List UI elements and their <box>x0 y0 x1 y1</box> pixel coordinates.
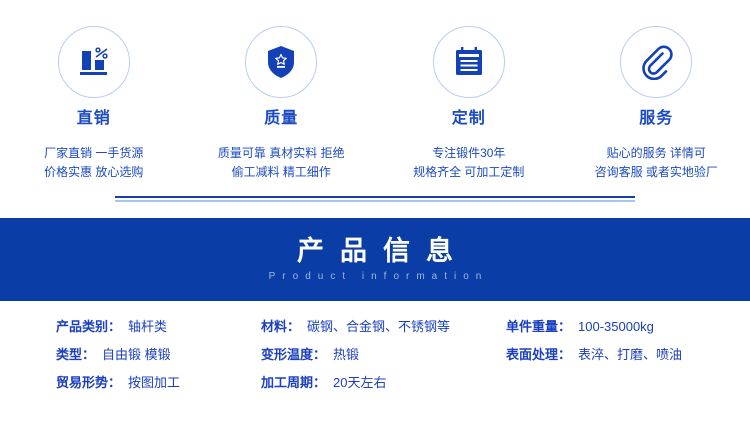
spec-row: 单件重量： 100-35000kg <box>506 316 710 344</box>
feature-icon-circle <box>245 26 317 98</box>
features-strip: 直销 厂家直销 一手货源 价格实惠 放心选购 质量 质量可靠 真材实料 拒绝 偷… <box>0 0 750 182</box>
spec-value: 按图加工 <box>128 372 180 391</box>
clipboard-lines-icon <box>452 45 486 79</box>
feature-title: 质量 <box>264 111 298 127</box>
feature-icon-circle <box>433 26 505 98</box>
feature-description-line-2: 咨询客服 或者实地验厂 <box>595 163 718 182</box>
feature-item-direct-sales[interactable]: 直销 厂家直销 一手货源 价格实惠 放心选购 <box>0 26 188 182</box>
feature-description: 质量可靠 真材实料 拒绝 偷工减料 精工细作 <box>218 144 345 182</box>
spec-row: 表面处理： 表淬、打磨、喷油 <box>506 344 710 372</box>
spec-column-1: 产品类别： 轴杆类 类型： 自由锻 模锻 贸易形势： 按图加工 <box>56 316 261 400</box>
feature-item-service[interactable]: 服务 贴心的服务 详情可 咨询客服 或者实地验厂 <box>563 26 750 182</box>
feature-description-line-2: 偷工减料 精工细作 <box>218 163 345 182</box>
spec-row: 加工周期： 20天左右 <box>261 372 506 400</box>
feature-item-customization[interactable]: 定制 专注锻件30年 规格齐全 可加工定制 <box>375 26 563 182</box>
banner-title: 产品信息 <box>281 237 469 265</box>
feature-description: 厂家直销 一手货源 价格实惠 放心选购 <box>44 144 143 182</box>
product-specs-table: 产品类别： 轴杆类 类型： 自由锻 模锻 贸易形势： 按图加工 材料： 碳钢、合… <box>0 316 750 400</box>
feature-description-line-1: 质量可靠 真材实料 拒绝 <box>218 144 345 163</box>
feature-item-quality[interactable]: 质量 质量可靠 真材实料 拒绝 偷工减料 精工细作 <box>188 26 376 182</box>
feature-icon-circle <box>620 26 692 98</box>
bar-chart-percent-icon <box>76 45 112 79</box>
spec-value: 表淬、打磨、喷油 <box>578 344 682 363</box>
feature-description-line-2: 价格实惠 放心选购 <box>44 163 143 182</box>
feature-description-line-1: 专注锻件30年 <box>413 144 524 163</box>
feature-title: 服务 <box>639 111 673 127</box>
feature-description-line-1: 贴心的服务 详情可 <box>595 144 718 163</box>
section-divider <box>115 196 635 202</box>
spec-value: 20天左右 <box>333 372 386 391</box>
spec-row: 类型： 自由锻 模锻 <box>56 344 261 372</box>
spec-label: 表面处理： <box>506 344 571 363</box>
spec-label: 类型： <box>56 344 95 363</box>
spec-row: 贸易形势： 按图加工 <box>56 372 261 400</box>
feature-description: 贴心的服务 详情可 咨询客服 或者实地验厂 <box>595 144 718 182</box>
spec-value: 热锻 <box>333 344 359 363</box>
spec-column-3: 单件重量： 100-35000kg 表面处理： 表淬、打磨、喷油 <box>506 316 710 400</box>
feature-description-line-2: 规格齐全 可加工定制 <box>413 163 524 182</box>
spec-label: 加工周期： <box>261 372 326 391</box>
spec-column-2: 材料： 碳钢、合金钢、不锈钢等 变形温度： 热锻 加工周期： 20天左右 <box>261 316 506 400</box>
banner-subtitle: Product information <box>262 272 489 282</box>
spec-row: 变形温度： 热锻 <box>261 344 506 372</box>
spec-label: 贸易形势： <box>56 372 121 391</box>
feature-title: 定制 <box>452 111 486 127</box>
shield-star-icon <box>265 44 297 80</box>
product-information-banner: 产品信息 Product information <box>0 218 750 301</box>
spec-label: 单件重量： <box>506 316 571 335</box>
feature-title: 直销 <box>77 111 111 127</box>
spec-row: 材料： 碳钢、合金钢、不锈钢等 <box>261 316 506 344</box>
spec-value: 100-35000kg <box>578 319 654 334</box>
spec-label: 变形温度： <box>261 344 326 363</box>
divider-rule-light <box>115 200 635 202</box>
feature-icon-circle <box>58 26 130 98</box>
paperclip-icon <box>638 44 674 80</box>
feature-description-line-1: 厂家直销 一手货源 <box>44 144 143 163</box>
spec-label: 产品类别： <box>56 316 121 335</box>
spec-label: 材料： <box>261 316 300 335</box>
spec-row: 产品类别： 轴杆类 <box>56 316 261 344</box>
spec-value: 自由锻 模锻 <box>102 344 171 363</box>
spec-value: 碳钢、合金钢、不锈钢等 <box>307 316 450 335</box>
feature-description: 专注锻件30年 规格齐全 可加工定制 <box>413 144 524 182</box>
spec-value: 轴杆类 <box>128 316 167 335</box>
